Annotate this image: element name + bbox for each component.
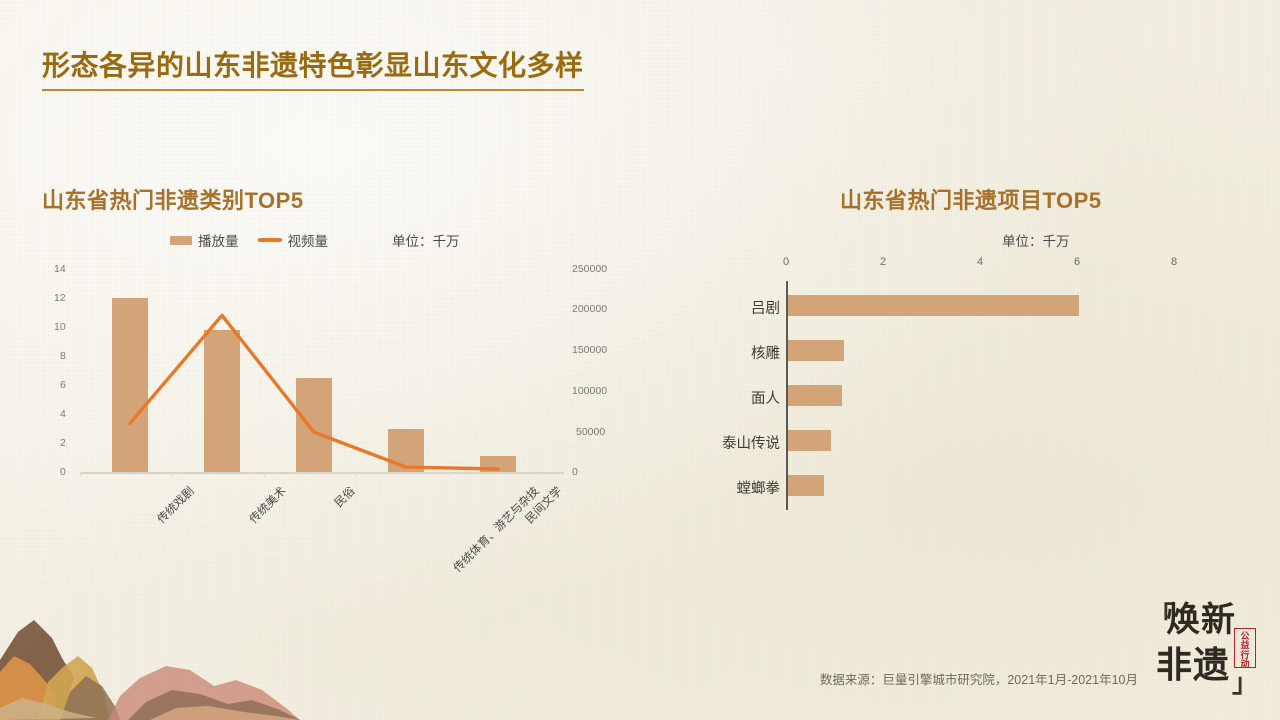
x-tickmark: [80, 472, 81, 476]
x-tickmark: [540, 472, 541, 476]
right-xtick-6: 6: [1074, 256, 1080, 268]
y-category-label: 核雕: [694, 342, 780, 363]
right-chart-title: 山东省热门非遗项目TOP5: [840, 183, 1102, 215]
left-chart-title: 山东省热门非遗类别TOP5: [42, 183, 304, 215]
left-ytick-2: 2: [60, 437, 66, 449]
right-chart-unit-note: 单位：千万: [1002, 230, 1070, 250]
legend-label-line: 视频量: [288, 230, 329, 250]
x-tickmark: [448, 472, 449, 476]
left-ytick-6: 6: [60, 379, 66, 391]
y-category-label: 吕剧: [694, 297, 780, 318]
y-category-label: 泰山传说: [694, 432, 780, 453]
x-tickmark: [264, 472, 265, 476]
logo-text-line1: 焕新: [1166, 592, 1236, 641]
left-ytick-0: 0: [60, 466, 66, 478]
bar-row[interactable]: [788, 295, 1079, 316]
left-chart: 播放量 视频量 单位：千万 14 12 10 8 6 4 2 0 250000 …: [40, 225, 640, 545]
legend-item-line: 视频量: [258, 230, 329, 250]
x-category-label: 传统美术: [245, 483, 289, 527]
right-xtick-8: 8: [1171, 256, 1177, 268]
left-y2tick-150000: 150000: [572, 344, 607, 356]
left-y2tick-100000: 100000: [572, 385, 607, 397]
left-y2tick-0: 0: [572, 466, 578, 478]
left-chart-x-axis: [80, 472, 564, 474]
legend-label-bar: 播放量: [198, 230, 239, 250]
left-chart-plot-area: [88, 269, 548, 472]
brand-logo: 「 焕新 非遗 」 公 益 行 动: [1146, 590, 1264, 698]
right-xtick-2: 2: [880, 256, 886, 268]
line-series-video-count: [88, 269, 548, 472]
decorative-mountains-illustration: [0, 560, 350, 720]
left-ytick-4: 4: [60, 408, 66, 420]
legend-bar-swatch-icon: [170, 236, 192, 245]
left-y2tick-50000: 50000: [576, 426, 605, 438]
left-ytick-8: 8: [60, 350, 66, 362]
right-xtick-0: 0: [783, 256, 789, 268]
source-note: 数据来源：巨量引擎城市研究院，2021年1月-2021年10月: [820, 669, 1138, 688]
x-category-label: 传统戏剧: [153, 483, 197, 527]
bar-row[interactable]: [788, 430, 832, 451]
left-chart-unit-note: 单位：千万: [392, 230, 460, 250]
left-y2tick-200000: 200000: [572, 303, 607, 315]
bar-row[interactable]: [788, 340, 845, 361]
page-title: 形态各异的山东非遗特色彰显山东文化多样: [42, 44, 584, 91]
left-ytick-14: 14: [54, 263, 66, 275]
logo-seal-stamp: 公 益 行 动: [1234, 628, 1256, 668]
right-chart: 单位：千万 0 2 4 6 8 吕剧 核雕 面人 泰山传说 螳螂拳: [690, 225, 1250, 525]
left-chart-legend: 播放量 视频量: [170, 230, 328, 250]
legend-item-bar: 播放量: [170, 230, 239, 250]
left-ytick-10: 10: [54, 321, 66, 333]
x-tickmark: [172, 472, 173, 476]
y-category-label: 面人: [694, 387, 780, 408]
seal-char-4: 动: [1235, 660, 1255, 669]
left-y2tick-250000: 250000: [572, 263, 607, 275]
logo-text-line2: 非遗: [1156, 636, 1230, 688]
bar-row[interactable]: [788, 385, 843, 406]
bar-row[interactable]: [788, 475, 825, 496]
x-category-label: 民俗: [331, 483, 359, 511]
y-category-label: 螳螂拳: [694, 477, 780, 498]
right-xtick-4: 4: [977, 256, 983, 268]
x-tickmark: [356, 472, 357, 476]
left-ytick-12: 12: [54, 292, 66, 304]
legend-line-swatch-icon: [258, 238, 282, 242]
